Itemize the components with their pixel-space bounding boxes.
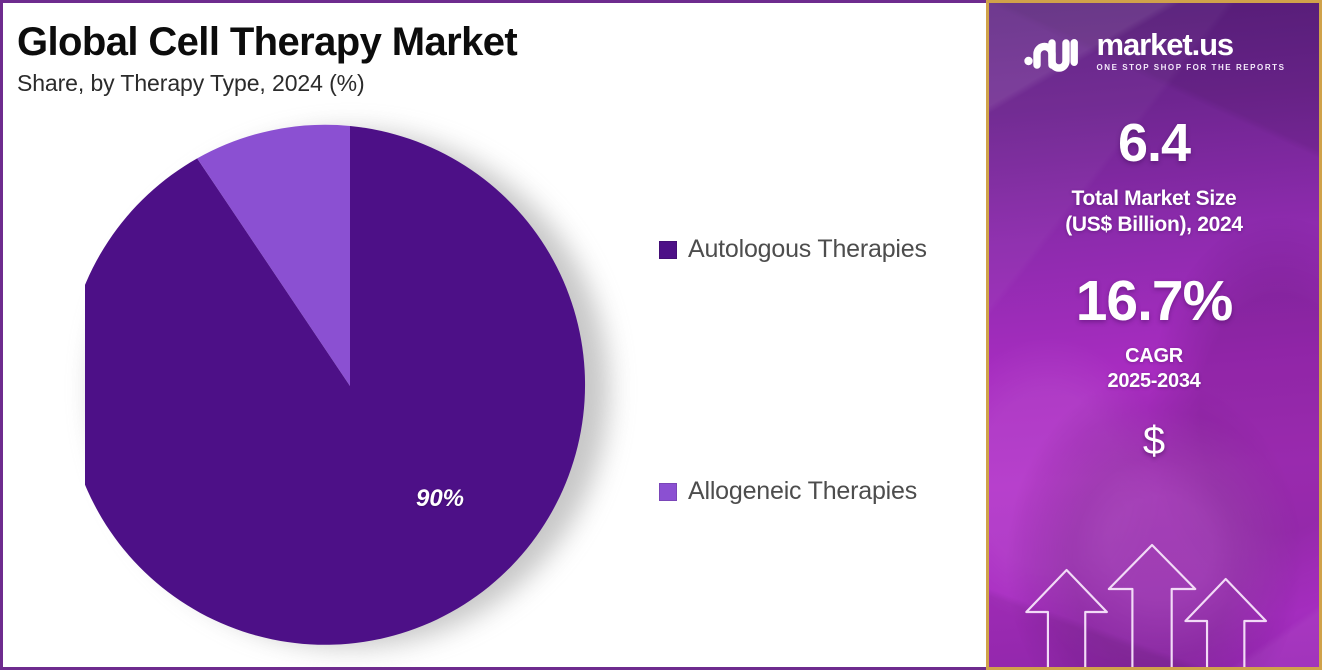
legend-label: Autologous Therapies: [688, 235, 927, 264]
market-size-value: 6.4: [989, 116, 1319, 170]
brand-logo[interactable]: market.us ONE STOP SHOP FOR THE REPORTS: [989, 3, 1319, 72]
market-size-caption: Total Market Size (US$ Billion), 2024: [989, 186, 1319, 237]
logo-wordmark: market.us ONE STOP SHOP FOR THE REPORTS: [1097, 29, 1286, 72]
market-size-caption-line2: (US$ Billion), 2024: [989, 212, 1319, 238]
cagr-value: 16.7%: [989, 273, 1319, 330]
legend: Autologous Therapies Allogeneic Therapie…: [659, 235, 969, 506]
market-size-caption-line1: Total Market Size: [989, 186, 1319, 212]
legend-item-autologous[interactable]: Autologous Therapies: [659, 235, 969, 264]
page-title: Global Cell Therapy Market: [17, 21, 737, 63]
pie-chart: 90%: [85, 121, 615, 651]
legend-swatch-icon: [659, 241, 677, 259]
chart-panel: Global Cell Therapy Market Share, by The…: [0, 0, 986, 670]
stat-panel: market.us ONE STOP SHOP FOR THE REPORTS …: [986, 0, 1322, 670]
infographic-root: Global Cell Therapy Market Share, by The…: [0, 0, 1322, 670]
cagr-caption-line1: CAGR: [989, 344, 1319, 368]
legend-label: Allogeneic Therapies: [688, 477, 917, 506]
dollar-sign-icon: $: [989, 421, 1319, 461]
cagr-caption-line2: 2025-2034: [989, 369, 1319, 393]
stat-content: market.us ONE STOP SHOP FOR THE REPORTS …: [989, 3, 1319, 667]
pie-slice-label-autologous: 90%: [416, 485, 464, 513]
chart-heading: Global Cell Therapy Market Share, by The…: [17, 21, 737, 97]
logo-word: market.us: [1097, 29, 1286, 60]
legend-item-allogeneic[interactable]: Allogeneic Therapies: [659, 477, 969, 506]
cagr-caption: CAGR 2025-2034: [989, 344, 1319, 393]
page-subtitle: Share, by Therapy Type, 2024 (%): [17, 70, 737, 97]
market-us-logo-icon: [1023, 30, 1085, 72]
pie-svg: [85, 121, 615, 651]
logo-tagline: ONE STOP SHOP FOR THE REPORTS: [1097, 63, 1286, 72]
legend-swatch-icon: [659, 483, 677, 501]
growth-arrows-icon: [989, 537, 1319, 667]
